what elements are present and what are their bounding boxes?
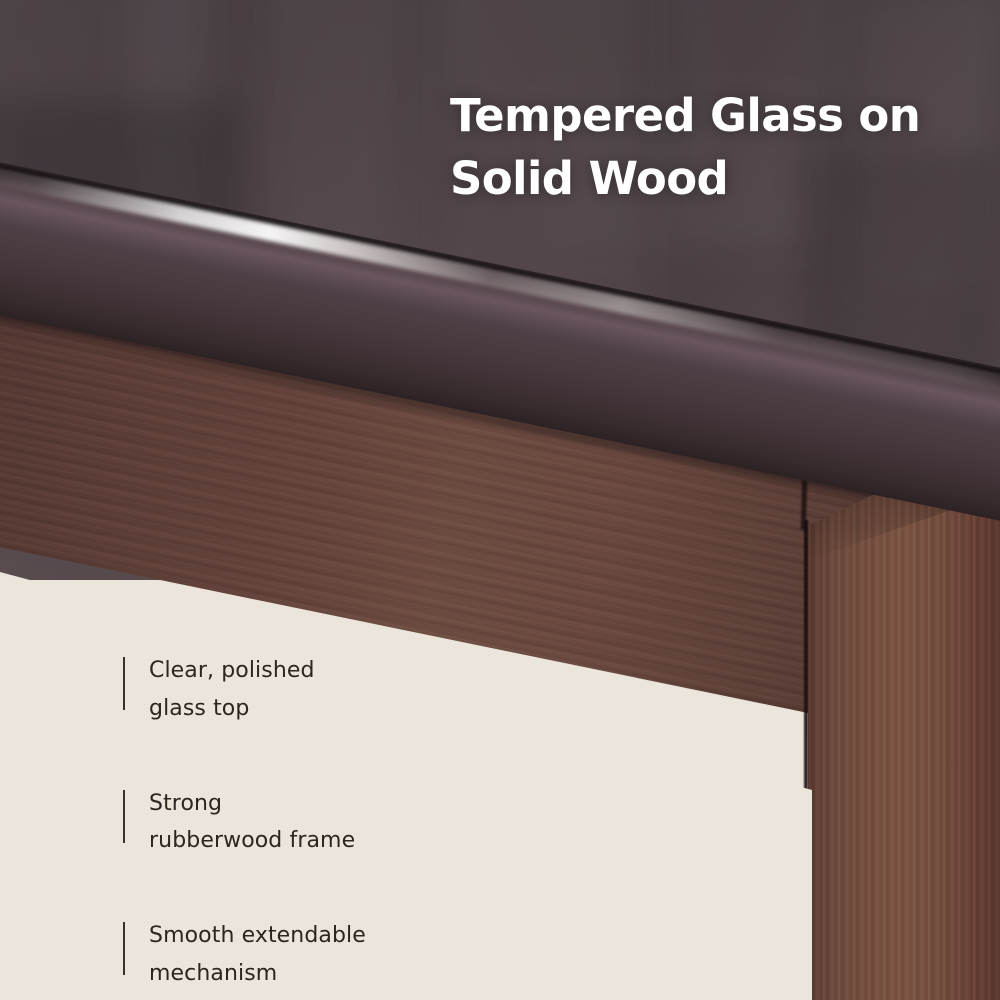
accent-bar-icon [123, 657, 125, 710]
feature-label: Clear, polished glass top [149, 652, 315, 728]
page-title: Tempered Glass on Solid Wood [450, 84, 970, 211]
feature-line-1: Strong [149, 785, 355, 823]
list-item: Clear, polished glass top [123, 652, 643, 728]
feature-label: Strong rubberwood frame [149, 785, 355, 861]
headline-line-2: Solid Wood [450, 147, 970, 210]
feature-card: Tempered Glass on Solid Wood Clear, poli… [0, 0, 1000, 1000]
headline-line-1: Tempered Glass on [450, 84, 970, 147]
accent-bar-icon [123, 922, 125, 975]
feature-label: Smooth extendable mechanism [149, 917, 366, 993]
feature-line-1: Clear, polished [149, 652, 315, 690]
list-item: Smooth extendable mechanism [123, 917, 643, 993]
list-item: Strong rubberwood frame [123, 785, 643, 861]
feature-line-2: mechanism [149, 955, 366, 993]
feature-list: Clear, polished glass top Strong rubberw… [123, 652, 643, 993]
accent-bar-icon [123, 790, 125, 843]
feature-line-1: Smooth extendable [149, 917, 366, 955]
feature-line-2: glass top [149, 690, 315, 728]
feature-line-2: rubberwood frame [149, 822, 355, 860]
